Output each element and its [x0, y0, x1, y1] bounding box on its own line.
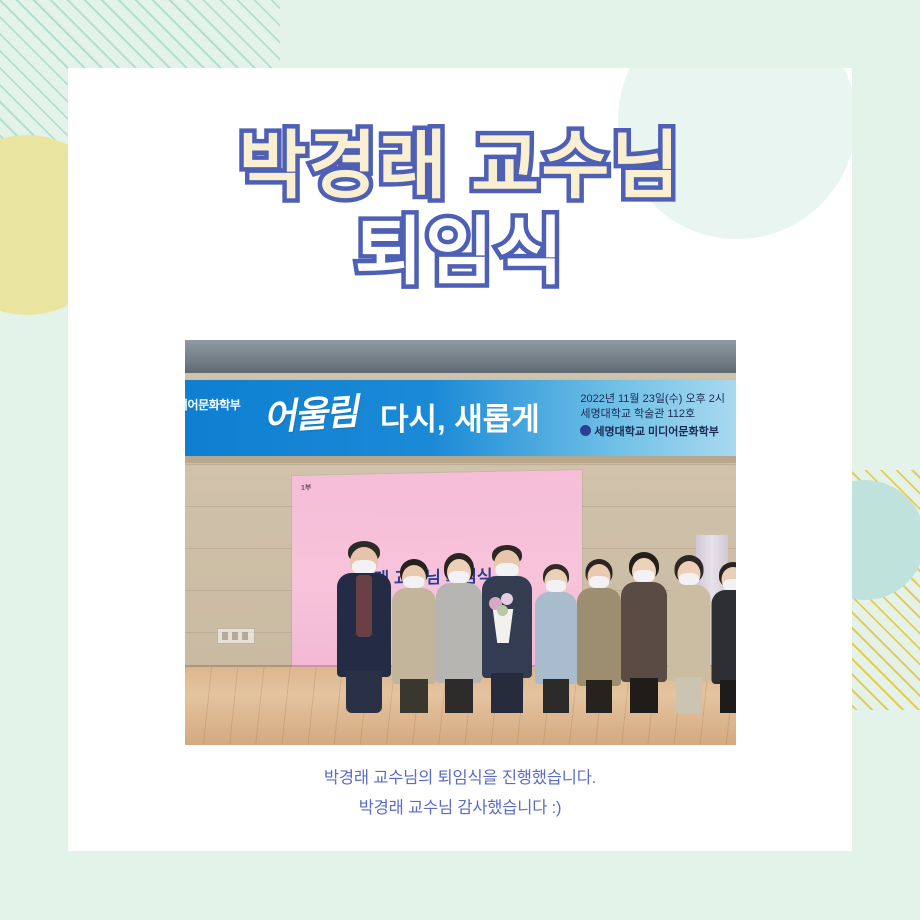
person-6 — [575, 555, 623, 713]
bouquet-flower — [501, 593, 513, 605]
person-legs — [720, 680, 736, 713]
title-line-1: 박경래 교수님 — [68, 123, 852, 209]
person-mask-icon — [496, 563, 519, 577]
title-line-1-text: 박경래 교수님 — [238, 123, 681, 209]
banner-info-place: 세명대학교 학술관 112호 — [580, 407, 725, 422]
person-body — [392, 588, 436, 684]
title-line-2: 퇴임식 — [68, 209, 852, 295]
person-5 — [533, 558, 579, 713]
person-mask-icon — [449, 571, 470, 583]
banner-info-org: 세명대학교 미디어문화학부 — [594, 426, 719, 438]
person-mask-icon — [634, 570, 655, 582]
person-legs — [346, 671, 382, 713]
caption-line-1: 박경래 교수님의 퇴임식을 진행했습니다. — [68, 763, 852, 793]
poster-title: 박경래 교수님 퇴임식 — [68, 123, 852, 295]
person-7 — [619, 551, 669, 713]
title-line-2-text: 퇴임식 — [355, 209, 565, 295]
banner-info-date: 2022년 11월 23일(수) 오후 2시 — [580, 392, 725, 407]
person-9 — [709, 557, 736, 713]
bouquet-flower — [497, 605, 508, 616]
bouquet-icon — [483, 591, 523, 643]
person-body — [621, 582, 667, 682]
person-mask-icon — [404, 576, 425, 588]
caption-line-2: 박경래 교수님 감사했습니다 :) — [68, 793, 852, 823]
person-3 — [434, 551, 484, 713]
poster-canvas: 박경래 교수님 퇴임식 디어문화학부 어울림 다시, 새롭게 2022년 11월… — [0, 0, 920, 920]
person-legs — [676, 677, 702, 713]
person-mask-icon — [352, 560, 376, 574]
event-photo: 디어문화학부 어울림 다시, 새롭게 2022년 11월 23일(수) 오후 2… — [185, 340, 736, 745]
person-body — [577, 588, 621, 686]
person-legs — [400, 679, 428, 713]
banner-script-word: 어울림 — [261, 383, 358, 441]
person-4-honoree — [479, 545, 535, 713]
photo-ceiling-trim — [185, 373, 736, 380]
person-legs — [586, 680, 612, 713]
screen-corner-tag: 1부 — [301, 483, 311, 493]
person-mask-icon — [546, 580, 566, 592]
banner-info-org-row: 세명대학교 미디어문화학부 — [580, 425, 725, 440]
banner-slogan: 다시, 새롭게 — [380, 394, 540, 439]
person-2 — [390, 555, 438, 713]
person-legs — [543, 679, 569, 713]
person-mask-icon — [589, 576, 609, 588]
photo-people-group — [185, 513, 736, 713]
person-mask-icon — [679, 573, 699, 585]
photo-banner-shadow-strip — [185, 456, 736, 463]
person-scarf — [356, 575, 372, 637]
person-1 — [333, 541, 395, 713]
white-card: 박경래 교수님 퇴임식 디어문화학부 어울림 다시, 새롭게 2022년 11월… — [68, 68, 852, 851]
person-body — [535, 592, 577, 684]
banner-department-label: 디어문화학부 — [185, 396, 240, 413]
person-body — [668, 585, 711, 681]
person-legs — [491, 673, 523, 713]
university-logo-icon — [580, 425, 591, 436]
person-legs — [445, 679, 473, 713]
poster-caption: 박경래 교수님의 퇴임식을 진행했습니다. 박경래 교수님 감사했습니다 :) — [68, 763, 852, 823]
banner-info-block: 2022년 11월 23일(수) 오후 2시 세명대학교 학술관 112호 세명… — [580, 392, 725, 440]
person-body — [712, 590, 737, 684]
person-body — [436, 583, 482, 683]
person-legs — [630, 678, 658, 713]
photo-stage-banner: 디어문화학부 어울림 다시, 새롭게 2022년 11월 23일(수) 오후 2… — [185, 380, 736, 458]
person-8 — [665, 553, 713, 713]
